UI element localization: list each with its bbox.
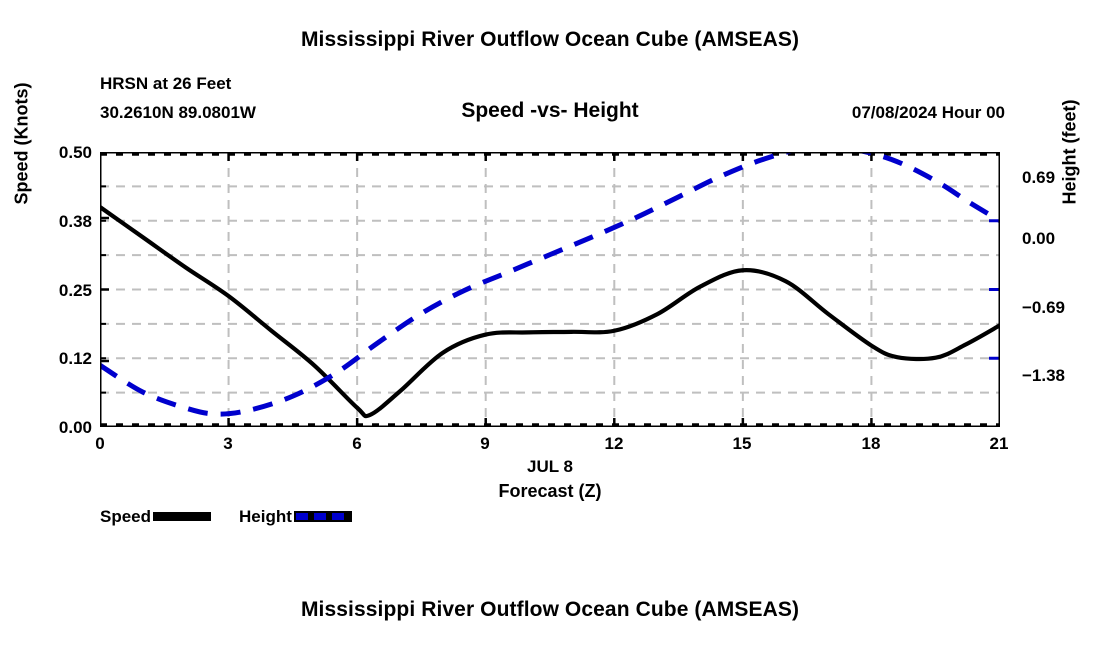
height-series-line <box>100 152 1000 414</box>
legend-label-height: Height <box>239 508 292 525</box>
x-axis-date-label: JUL 8 <box>0 457 1100 477</box>
x-axis-title: Forecast (Z) <box>0 481 1100 502</box>
y-right-tick-label: −0.69 <box>1022 298 1092 318</box>
legend-label-speed: Speed <box>100 508 151 525</box>
chart-canvas <box>100 152 1000 427</box>
y-left-tick-label: 0.50 <box>22 143 92 163</box>
station-depth-label: HRSN at 26 Feet <box>100 74 231 94</box>
gridlines <box>100 152 1000 427</box>
x-tick-label: 12 <box>584 434 644 454</box>
y-left-tick-label: 0.12 <box>22 349 92 369</box>
footer-title: Mississippi River Outflow Ocean Cube (AM… <box>0 598 1100 622</box>
legend-swatch-height-icon <box>294 511 352 522</box>
x-tick-label: 0 <box>70 434 130 454</box>
legend-item-height: Height <box>239 508 352 525</box>
x-tick-label: 21 <box>969 434 1029 454</box>
x-tick-label: 9 <box>455 434 515 454</box>
plot-area <box>100 152 1000 427</box>
y-axis-left-title: Speed (Knots) <box>12 177 33 205</box>
y-right-tick-label: 0.69 <box>1022 168 1092 188</box>
x-tick-label: 18 <box>841 434 901 454</box>
x-tick-label: 3 <box>198 434 258 454</box>
x-tick-label: 15 <box>712 434 772 454</box>
y-right-tick-label: −1.38 <box>1022 366 1092 386</box>
legend: Speed Height <box>100 506 352 526</box>
y-left-tick-label: 0.38 <box>22 212 92 232</box>
model-run-label: 07/08/2024 Hour 00 <box>852 103 1005 123</box>
y-right-tick-label: 0.00 <box>1022 229 1092 249</box>
legend-item-speed: Speed <box>100 508 211 525</box>
speed-series-line <box>100 207 1000 416</box>
chart-page: Mississippi River Outflow Ocean Cube (AM… <box>0 0 1100 650</box>
legend-swatch-speed-icon <box>153 512 211 521</box>
page-title: Mississippi River Outflow Ocean Cube (AM… <box>0 28 1100 52</box>
y-left-tick-label: 0.25 <box>22 281 92 301</box>
x-tick-label: 6 <box>327 434 387 454</box>
